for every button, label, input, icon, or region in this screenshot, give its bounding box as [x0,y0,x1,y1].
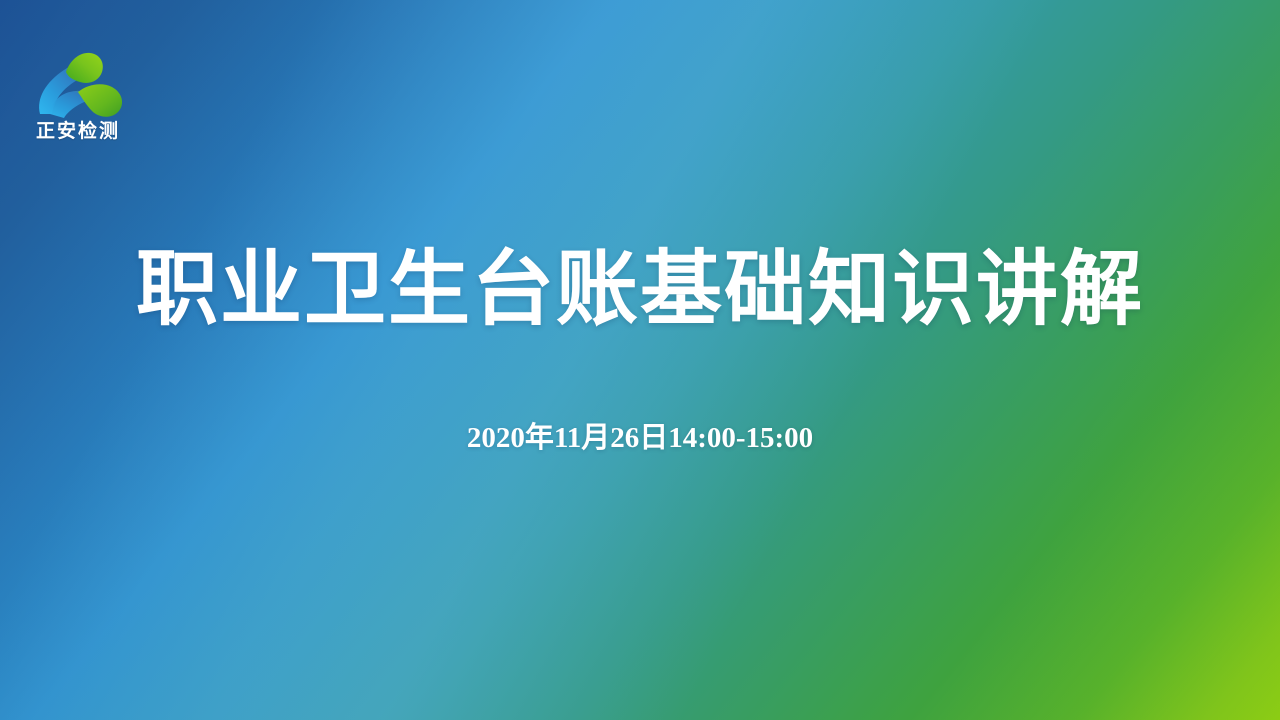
presentation-title-slide: 正安检测 职业卫生台账基础知识讲解 2020年11月26日14:00-15:00 [0,0,1280,720]
background-shade-band [0,0,1280,720]
zhengan-logo-mark-icon [26,44,130,120]
company-name-label: 正安检测 [8,122,148,143]
background-light-band [0,0,1280,720]
slide-main-title: 职业卫生台账基础知识讲解 [0,246,1280,335]
slide-subtitle-datetime: 2020年11月26日14:00-15:00 [0,414,1280,456]
company-logo[interactable]: 正安检测 [8,44,148,143]
title-block: 职业卫生台账基础知识讲解 2020年11月26日14:00-15:00 [0,246,1280,335]
